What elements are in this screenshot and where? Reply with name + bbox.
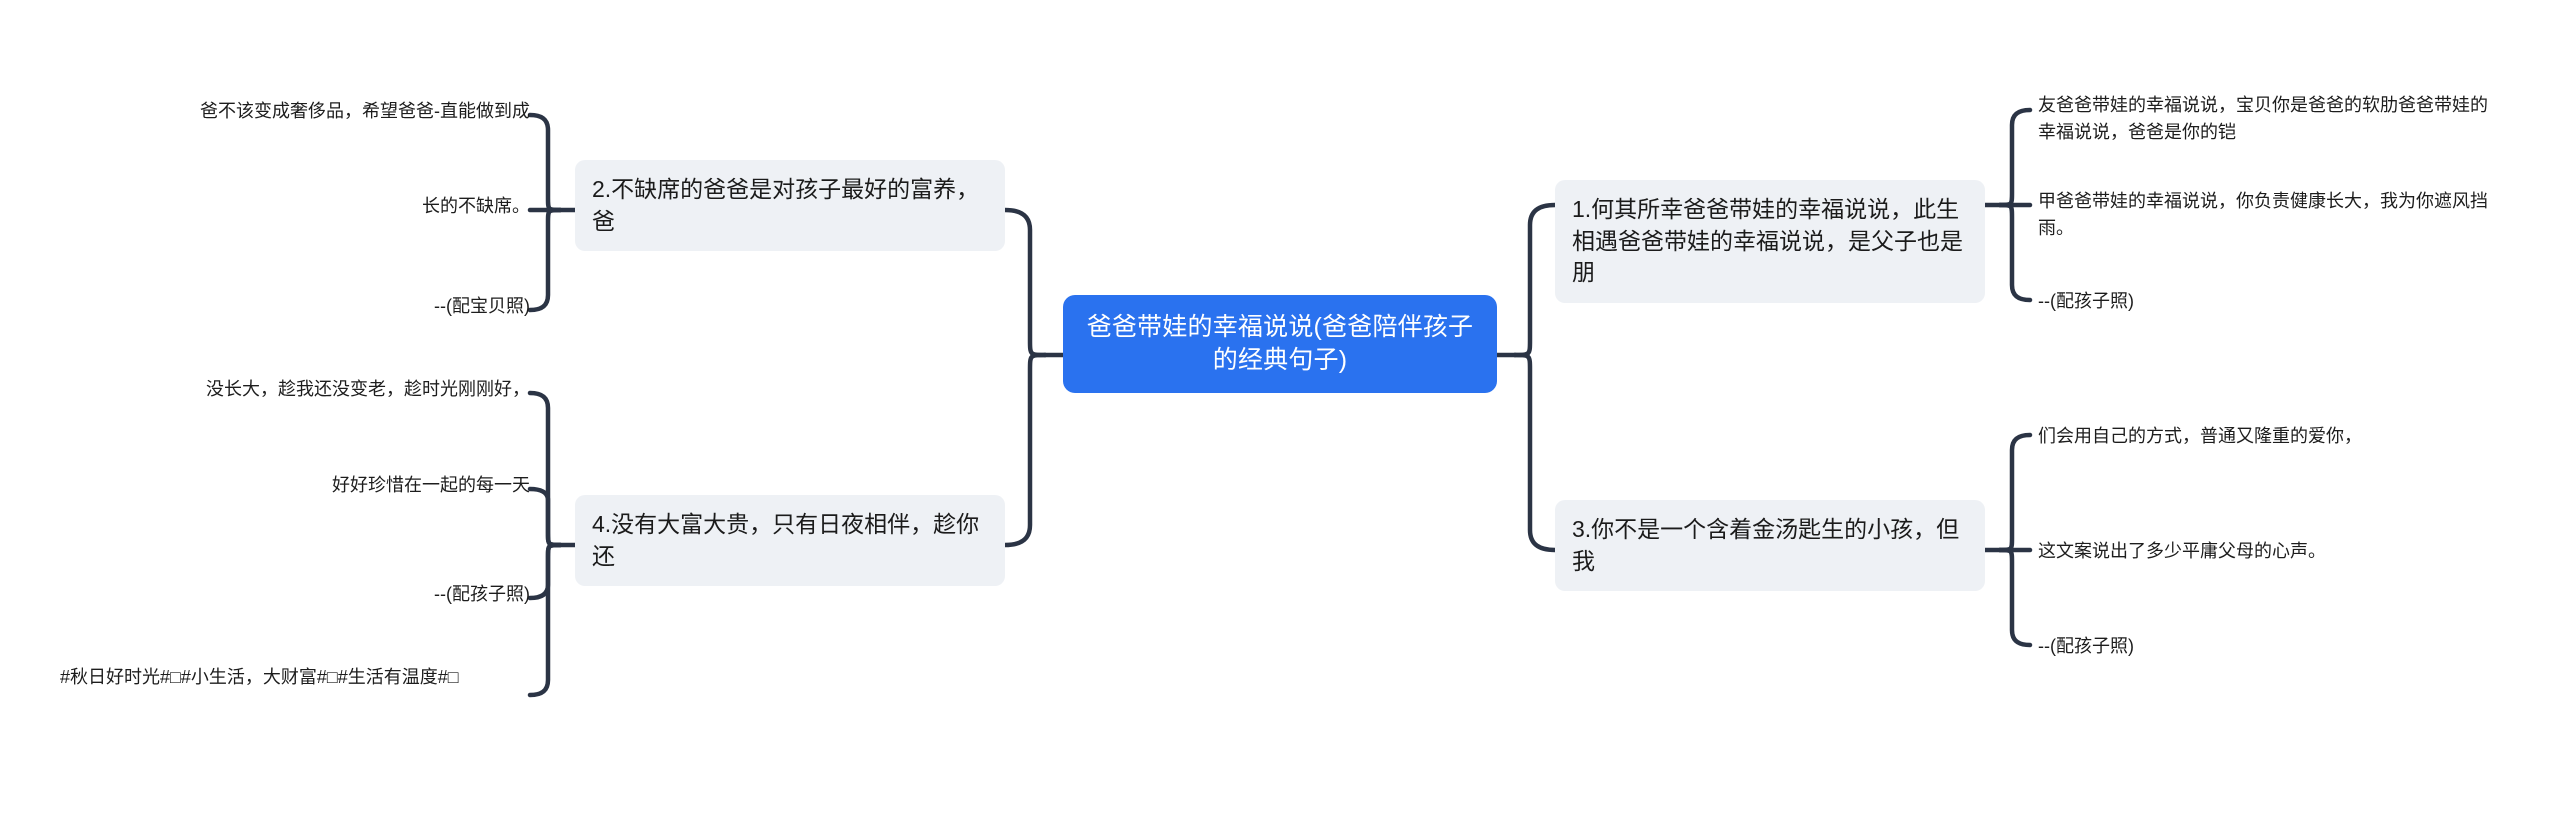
leaf-node-right-2-1[interactable]: 们会用自己的方式，普通又隆重的爱你， bbox=[2038, 423, 2500, 450]
connector-root-to-left-branch-2 bbox=[1005, 355, 1045, 545]
branch-node-left-2-label: 4.没有大富大贵，只有日夜相伴，趁你还 bbox=[592, 511, 979, 569]
root-node[interactable]: 爸爸带娃的幸福说说(爸爸陪伴孩子的经典句子) bbox=[1063, 295, 1497, 393]
connector-root-to-right-branch-1 bbox=[1515, 205, 1555, 355]
leaf-node-left-2-1-label: 没长大，趁我还没变老，趁时光刚刚好， bbox=[206, 379, 530, 399]
connector-root-to-right-branch-2 bbox=[1515, 355, 1555, 550]
leaf-node-left-2-2-label: 好好珍惜在一起的每一天 bbox=[332, 475, 530, 495]
leaf-node-left-1-3-label: --(配宝贝照) bbox=[434, 296, 530, 316]
branch-node-right-2[interactable]: 3.你不是一个含着金汤匙生的小孩，但我 bbox=[1555, 500, 1985, 591]
connector-left-b2-leaf-3 bbox=[530, 545, 560, 598]
root-node-label: 爸爸带娃的幸福说说(爸爸陪伴孩子的经典句子) bbox=[1087, 313, 1474, 374]
branch-node-right-1[interactable]: 1.何其所幸爸爸带娃的幸福说说，此生相遇爸爸带娃的幸福说说，是父子也是朋 bbox=[1555, 180, 1985, 303]
branch-node-left-2[interactable]: 4.没有大富大贵，只有日夜相伴，趁你还 bbox=[575, 495, 1005, 586]
connector-right-b1-leaf-3 bbox=[2000, 205, 2030, 300]
leaf-node-right-1-3-label: --(配孩子照) bbox=[2038, 291, 2134, 311]
leaf-node-left-2-4[interactable]: #秋日好时光#□#小生活，大财富#□#生活有温度#□ bbox=[60, 664, 530, 691]
leaf-node-right-1-3[interactable]: --(配孩子照) bbox=[2038, 288, 2500, 315]
leaf-node-right-2-1-label: 们会用自己的方式，普通又隆重的爱你， bbox=[2038, 426, 2362, 446]
connector-right-b2-leaf-1 bbox=[2000, 435, 2030, 550]
leaf-node-right-2-2[interactable]: 这文案说出了多少平庸父母的心声。 bbox=[2038, 538, 2500, 565]
connector-root-to-left-branch-1 bbox=[1005, 210, 1045, 355]
leaf-node-right-1-2-label: 甲爸爸带娃的幸福说说，你负责健康长大，我为你遮风挡雨。 bbox=[2038, 191, 2488, 238]
branch-node-left-1-label: 2.不缺席的爸爸是对孩子最好的富养，爸 bbox=[592, 176, 979, 234]
leaf-node-left-1-2[interactable]: 长的不缺席。 bbox=[60, 193, 530, 220]
connector-right-b2-leaf-3 bbox=[2000, 550, 2030, 645]
leaf-node-left-1-1[interactable]: 爸不该变成奢侈品，希望爸爸-直能做到成 bbox=[60, 98, 530, 125]
branch-node-right-2-label: 3.你不是一个含着金汤匙生的小孩，但我 bbox=[1572, 516, 1959, 574]
leaf-node-right-2-3-label: --(配孩子照) bbox=[2038, 636, 2134, 656]
leaf-node-left-2-3[interactable]: --(配孩子照) bbox=[60, 581, 530, 608]
connector-left-b1-leaf-1 bbox=[530, 115, 560, 210]
leaf-node-left-2-1[interactable]: 没长大，趁我还没变老，趁时光刚刚好， bbox=[60, 376, 530, 403]
connector-right-b1-leaf-1 bbox=[2000, 110, 2030, 205]
connector-left-b2-leaf-1 bbox=[530, 393, 560, 545]
leaf-node-left-2-4-label: #秋日好时光#□#小生活，大财富#□#生活有温度#□ bbox=[60, 667, 459, 687]
connector-left-b1-leaf-3 bbox=[530, 210, 560, 310]
leaf-node-left-1-1-label: 爸不该变成奢侈品，希望爸爸-直能做到成 bbox=[200, 101, 530, 121]
leaf-node-left-1-3[interactable]: --(配宝贝照) bbox=[60, 293, 530, 320]
leaf-node-left-2-2[interactable]: 好好珍惜在一起的每一天 bbox=[60, 472, 530, 499]
mind-map-canvas: 爸爸带娃的幸福说说(爸爸陪伴孩子的经典句子) 2.不缺席的爸爸是对孩子最好的富养… bbox=[0, 0, 2560, 819]
connector-left-b2-leaf-4 bbox=[530, 545, 560, 695]
leaf-node-left-2-3-label: --(配孩子照) bbox=[434, 584, 530, 604]
connector-left-b2-leaf-2 bbox=[530, 489, 560, 545]
leaf-node-right-1-1-label: 友爸爸带娃的幸福说说，宝贝你是爸爸的软肋爸爸带娃的幸福说说，爸爸是你的铠 bbox=[2038, 95, 2488, 142]
leaf-node-right-2-2-label: 这文案说出了多少平庸父母的心声。 bbox=[2038, 541, 2326, 561]
branch-node-left-1[interactable]: 2.不缺席的爸爸是对孩子最好的富养，爸 bbox=[575, 160, 1005, 251]
leaf-node-right-2-3[interactable]: --(配孩子照) bbox=[2038, 633, 2500, 660]
branch-node-right-1-label: 1.何其所幸爸爸带娃的幸福说说，此生相遇爸爸带娃的幸福说说，是父子也是朋 bbox=[1572, 196, 1963, 285]
leaf-node-left-1-2-label: 长的不缺席。 bbox=[422, 196, 530, 216]
leaf-node-right-1-2[interactable]: 甲爸爸带娃的幸福说说，你负责健康长大，我为你遮风挡雨。 bbox=[2038, 188, 2500, 242]
leaf-node-right-1-1[interactable]: 友爸爸带娃的幸福说说，宝贝你是爸爸的软肋爸爸带娃的幸福说说，爸爸是你的铠 bbox=[2038, 92, 2500, 146]
